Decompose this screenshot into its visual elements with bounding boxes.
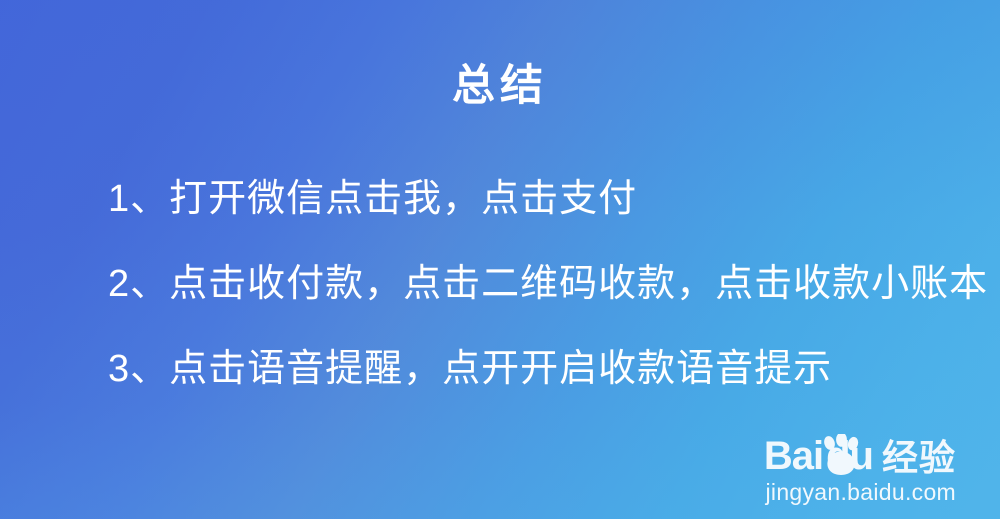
summary-step-list: 1、打开微信点击我，点击支付 2、点击收付款，点击二维码收款，点击收款小账本 3… bbox=[108, 176, 978, 393]
slide-canvas: 总结 1、打开微信点击我，点击支付 2、点击收付款，点击二维码收款，点击收款小账… bbox=[0, 0, 1000, 519]
watermark-url: jingyan.baidu.com bbox=[764, 480, 956, 505]
list-item: 3、点击语音提醒，点开开启收款语音提示 bbox=[108, 346, 978, 393]
list-item: 1、打开微信点击我，点击支付 bbox=[108, 176, 978, 223]
page-title: 总结 bbox=[0, 60, 1000, 112]
list-item: 2、点击收付款，点击二维码收款，点击收款小账本 bbox=[108, 261, 978, 308]
baidu-logo: Bai du 经验 bbox=[764, 430, 956, 476]
baidu-logo-jingyan-text: 经验 bbox=[882, 440, 956, 476]
baidu-logo-bai-text: Bai bbox=[764, 436, 823, 476]
baidu-logo-du-text: du bbox=[826, 436, 873, 476]
baidu-jingyan-watermark: Bai du 经验 jingyan.baidu.com bbox=[764, 430, 956, 505]
